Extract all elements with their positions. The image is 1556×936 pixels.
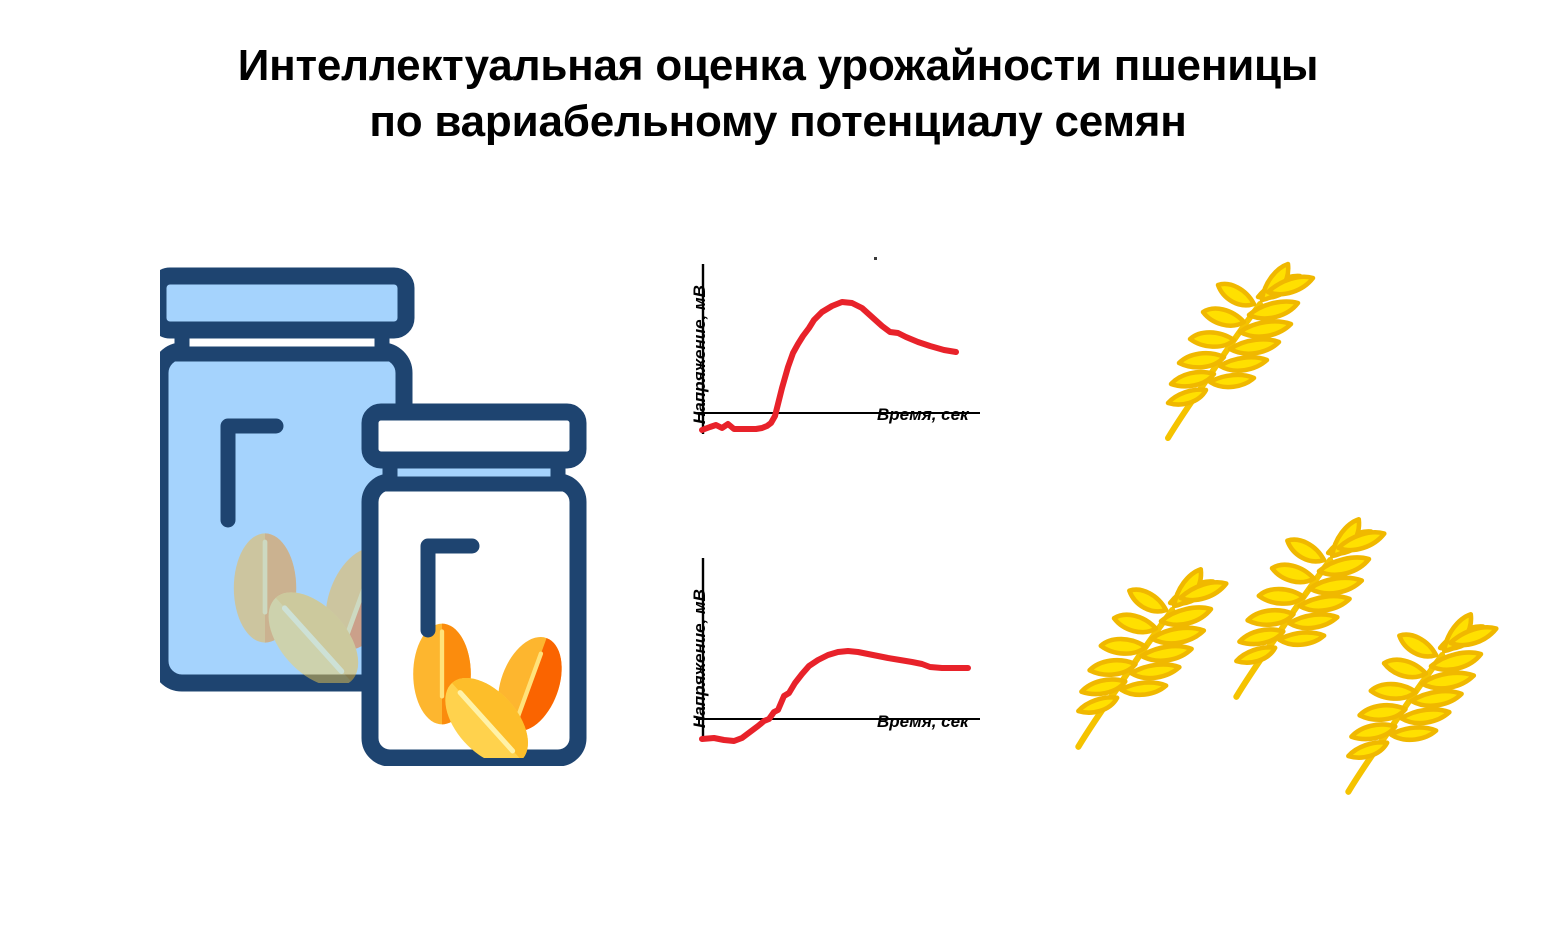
page-title-line-1: Интеллектуальная оценка урожайности пшен… xyxy=(178,38,1378,94)
page-title-line-2: по вариабельному потенциалу семян xyxy=(178,94,1378,150)
chart-bottom-x-axis-label: Время, сек xyxy=(877,712,969,732)
wheat-ear-shape-1 xyxy=(1078,569,1226,746)
page-title: Интеллектуальная оценка урожайности пшен… xyxy=(178,38,1378,151)
chart-top: Напряжение, мВ Время, сек xyxy=(672,250,982,450)
big-jar-lid xyxy=(160,276,406,330)
chart-top-y-axis-label: Напряжение, мВ xyxy=(690,285,710,424)
wheat-ear-shape-2 xyxy=(1236,519,1384,696)
wheat-ear-shape-3 xyxy=(1348,614,1496,791)
chart-bottom-y-axis-label: Напряжение, мВ xyxy=(690,589,710,728)
seed-jars-illustration xyxy=(160,266,630,771)
wheat-ear-group xyxy=(1040,505,1540,810)
wheat-ear-single xyxy=(1150,250,1360,455)
wheat-ear-shape xyxy=(1168,264,1313,438)
small-jar-treated xyxy=(370,412,578,766)
small-jar-lid xyxy=(370,412,578,460)
chart-bottom: Напряжение, мВ Время, сек xyxy=(672,550,982,760)
chart-top-x-axis-label: Время, сек xyxy=(877,405,969,425)
slide-canvas: Интеллектуальная оценка урожайности пшен… xyxy=(0,0,1556,936)
scan-speck-artifact xyxy=(874,257,877,260)
